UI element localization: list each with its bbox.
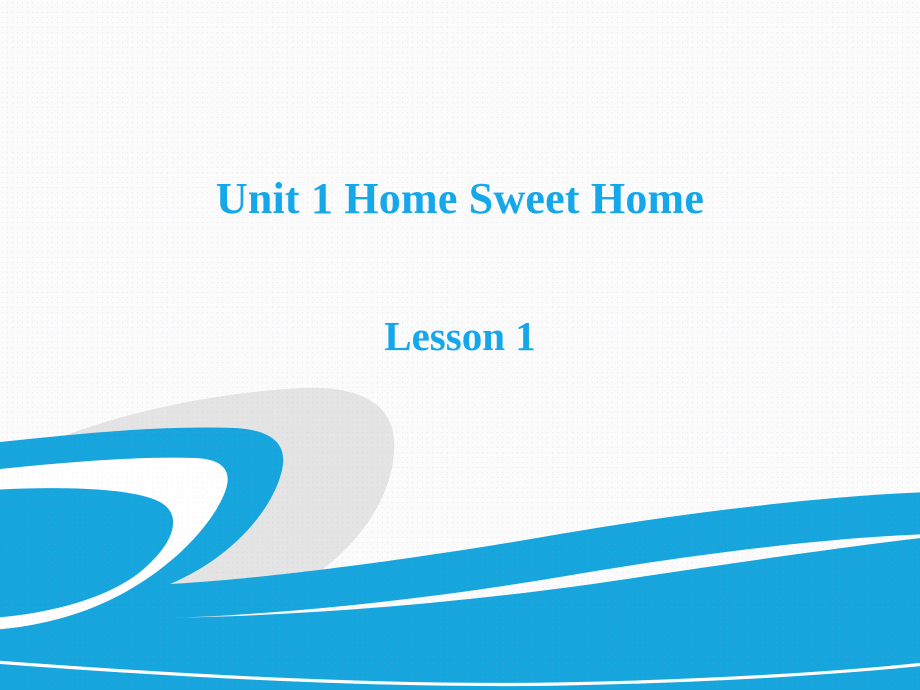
presentation-slide: Unit 1 Home Sweet Home Lesson 1: [0, 0, 920, 690]
slide-text-layer: Unit 1 Home Sweet Home Lesson 1: [0, 0, 920, 690]
page-title: Unit 1 Home Sweet Home: [0, 175, 920, 223]
slide-subtitle: Lesson 1: [0, 314, 920, 359]
